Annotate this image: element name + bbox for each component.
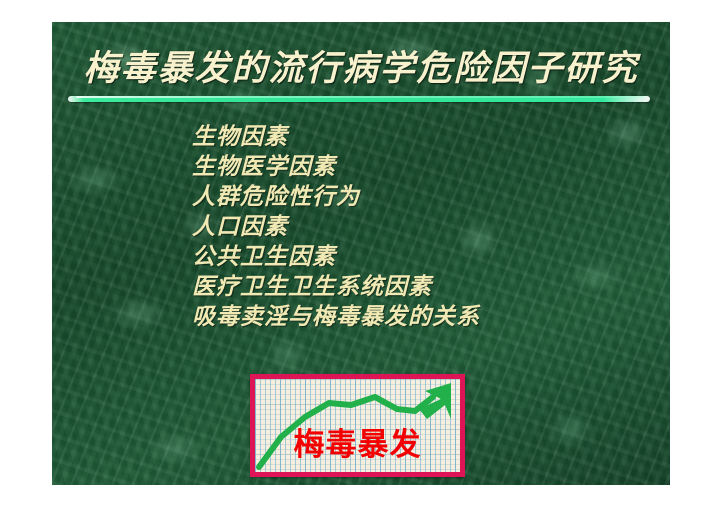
page-title: 梅毒暴发的流行病学危险因子研究 — [52, 50, 670, 89]
title-divider-line — [68, 96, 650, 102]
outbreak-graph-figure: 梅毒暴发 — [250, 374, 465, 477]
list-item: 公共卫生因素 — [192, 242, 480, 272]
slide-page: 梅毒暴发的流行病学危险因子研究 生物因素 生物医学因素 人群危险性行为 人口因素… — [0, 0, 720, 509]
graph-label: 梅毒暴发 — [255, 429, 460, 460]
list-item: 吸毒卖淫与梅毒暴发的关系 — [192, 302, 480, 332]
list-item: 人口因素 — [192, 212, 480, 242]
list-item: 生物因素 — [192, 122, 480, 152]
list-item: 生物医学因素 — [192, 152, 480, 182]
presentation-slide: 梅毒暴发的流行病学危险因子研究 生物因素 生物医学因素 人群危险性行为 人口因素… — [52, 22, 670, 485]
list-item: 人群危险性行为 — [192, 182, 480, 212]
list-item: 医疗卫生卫生系统因素 — [192, 272, 480, 302]
bullet-list: 生物因素 生物医学因素 人群危险性行为 人口因素 公共卫生因素 医疗卫生卫生系统… — [192, 122, 480, 332]
